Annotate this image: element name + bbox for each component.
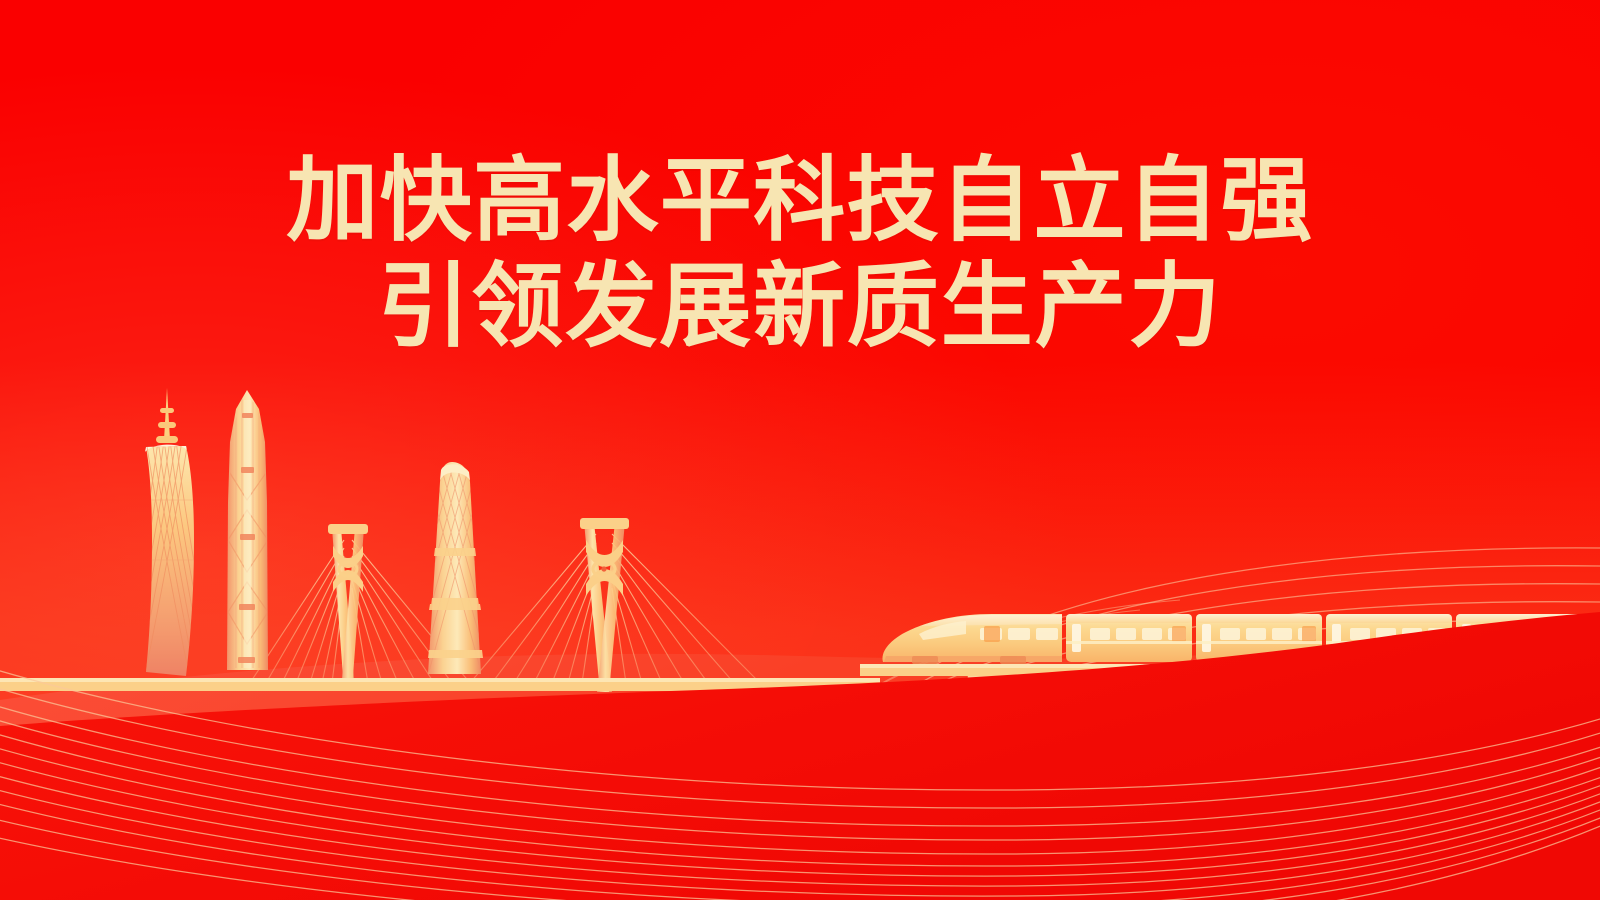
page-title: 加快高水平科技自立自强 引领发展新质生产力 — [0, 148, 1600, 360]
bottom-wave-lines — [0, 668, 1600, 900]
title-line-2: 引领发展新质生产力 — [0, 254, 1600, 360]
title-line-1: 加快高水平科技自立自强 — [0, 148, 1600, 254]
wave-lines-layer — [0, 0, 1600, 900]
poster-root: 加快高水平科技自立自强 引领发展新质生产力 — [0, 0, 1600, 900]
